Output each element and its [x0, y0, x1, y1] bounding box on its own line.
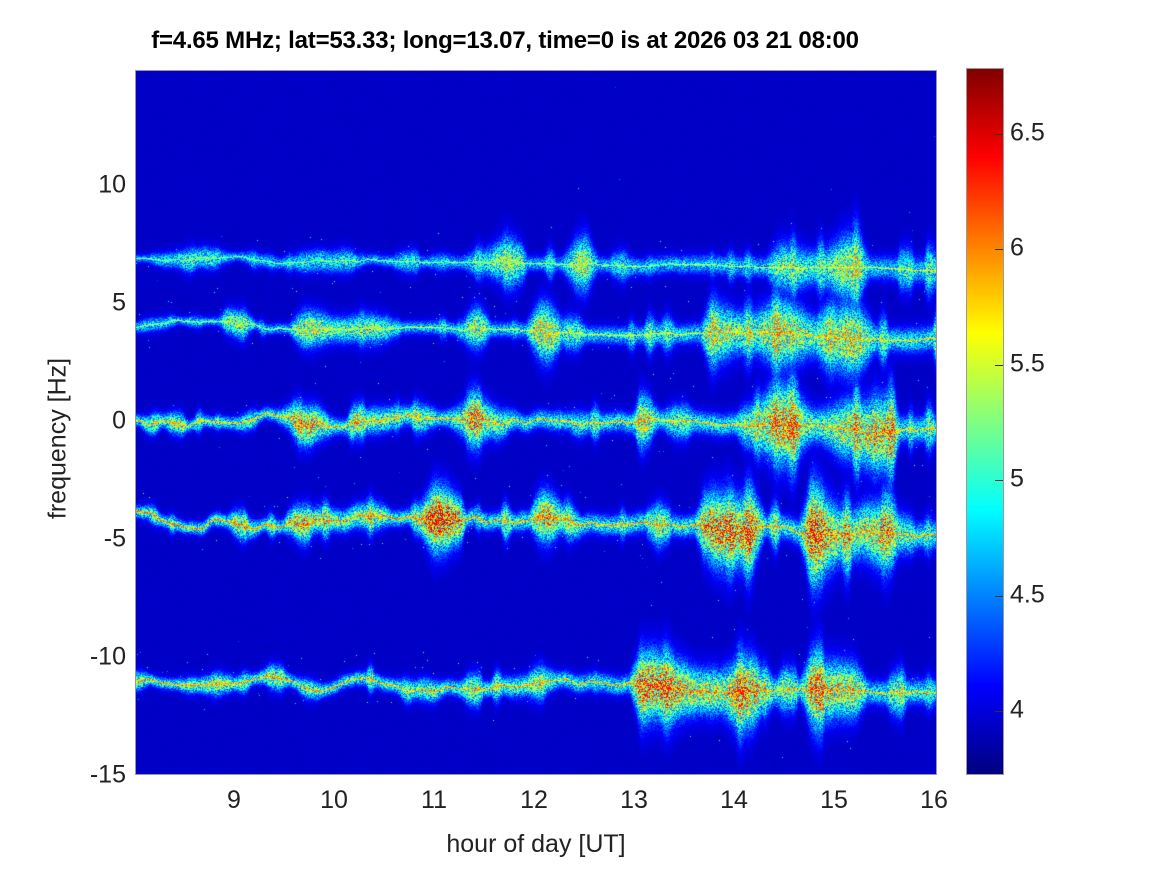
x-tick-label: 16 — [894, 788, 974, 813]
colorbar-tick-label: 5 — [1010, 467, 1024, 492]
x-tick-label: 13 — [594, 788, 674, 813]
x-tick-label: 11 — [394, 788, 474, 813]
colorbar-tick — [995, 365, 1003, 366]
y-axis-title: frequency [Hz] — [44, 289, 73, 589]
colorbar-tick-label: 5.5 — [1010, 351, 1045, 376]
colorbar-tick-label: 6.5 — [1010, 120, 1045, 145]
x-tick-label: 9 — [194, 788, 274, 813]
page-title: f=4.65 MHz; lat=53.33; long=13.07, time=… — [0, 27, 1010, 55]
colorbar-tick — [995, 134, 1003, 135]
spectrogram-figure: f=4.65 MHz; lat=53.33; long=13.07, time=… — [0, 0, 1167, 875]
colorbar-tick — [995, 711, 1003, 712]
x-axis-tick-labels: 910111213141516 — [0, 788, 1167, 822]
colorbar-tick — [995, 480, 1003, 481]
colorbar-tick-label: 6 — [1010, 236, 1024, 261]
colorbar-tick — [995, 596, 1003, 597]
colorbar[interactable] — [966, 68, 1004, 775]
y-axis-tick-labels: 1050-5-10-15 — [22, 0, 126, 875]
y-tick-label: -10 — [40, 644, 126, 669]
plot-area[interactable] — [135, 70, 937, 775]
colorbar-tick — [995, 249, 1003, 250]
x-tick-label: 14 — [694, 788, 774, 813]
x-axis-title: hour of day [UT] — [135, 830, 937, 859]
colorbar-gradient — [967, 69, 1003, 774]
colorbar-tick-label: 4.5 — [1010, 582, 1045, 607]
y-tick-label: -15 — [40, 763, 126, 788]
x-tick-label: 10 — [294, 788, 374, 813]
x-tick-label: 15 — [794, 788, 874, 813]
spectrogram-image — [136, 71, 937, 775]
colorbar-tick-labels: 6.565.554.54 — [1010, 0, 1140, 875]
y-tick-label: 10 — [40, 172, 126, 197]
x-tick-label: 12 — [494, 788, 574, 813]
colorbar-tick-label: 4 — [1010, 698, 1024, 723]
